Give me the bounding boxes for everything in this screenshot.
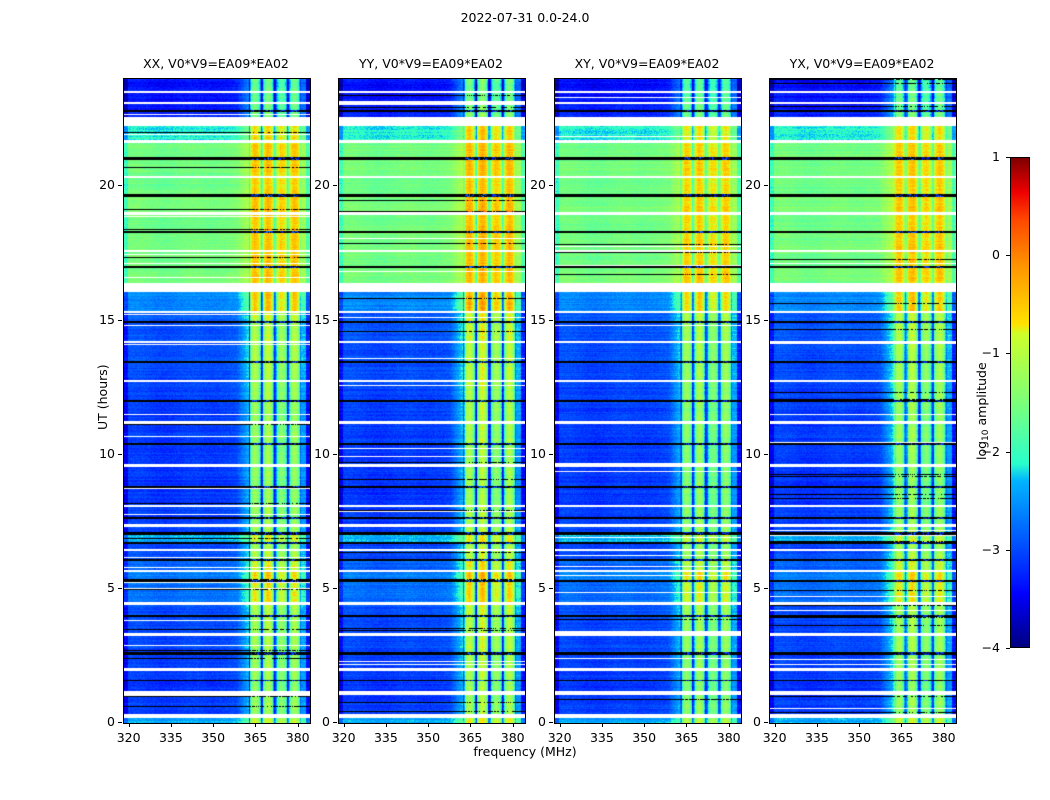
x-tick-label: 320 [540, 730, 580, 745]
y-tick-label: 20 [727, 177, 761, 192]
y-tick [549, 320, 553, 321]
y-tick [764, 454, 768, 455]
panel-title-yy: YY, V0*V9=EA09*EA02 [308, 56, 554, 71]
colorbar-tick [1006, 550, 1010, 551]
x-tick-label: 380 [924, 730, 964, 745]
y-tick-label: 5 [727, 580, 761, 595]
y-tick-label: 0 [81, 714, 115, 729]
panel-title-yx: YX, V0*V9=EA09*EA02 [739, 56, 985, 71]
colorbar-tick [1006, 157, 1010, 158]
x-tick-label: 320 [324, 730, 364, 745]
colorbar-label-subscript: 10 [981, 429, 991, 440]
x-tick [344, 723, 345, 727]
x-tick [775, 723, 776, 727]
y-tick-label: 10 [512, 446, 546, 461]
figure-suptitle: 2022-07-31 0.0-24.0 [0, 10, 1050, 25]
x-tick-label: 380 [709, 730, 749, 745]
spectrum-panel-xy[interactable] [554, 78, 742, 724]
figure-canvas: 2022-07-31 0.0-24.0 UT (hours) frequency… [0, 0, 1050, 800]
x-tick-label: 320 [755, 730, 795, 745]
colorbar-tick [1006, 648, 1010, 649]
spectrum-image-yx [770, 79, 956, 723]
x-axis-label: frequency (MHz) [0, 744, 1050, 759]
x-tick [859, 723, 860, 727]
y-tick-label: 15 [727, 312, 761, 327]
y-tick [764, 588, 768, 589]
y-tick [118, 320, 122, 321]
y-tick [333, 185, 337, 186]
y-tick-label: 5 [512, 580, 546, 595]
spectrum-panel-xx[interactable] [123, 78, 311, 724]
x-tick [686, 723, 687, 727]
panel-title-xy: XY, V0*V9=EA09*EA02 [524, 56, 770, 71]
colorbar-tick-label: 0 [970, 247, 1000, 262]
y-tick-label: 10 [81, 446, 115, 461]
y-tick-label: 15 [81, 312, 115, 327]
y-tick-label: 0 [727, 714, 761, 729]
spectrum-image-yy [339, 79, 525, 723]
colorbar[interactable] [1010, 157, 1030, 648]
y-tick [549, 588, 553, 589]
x-tick-label: 335 [151, 730, 191, 745]
x-tick [817, 723, 818, 727]
x-tick-label: 365 [666, 730, 706, 745]
colorbar-tick-label: −4 [970, 640, 1000, 655]
colorbar-tick-label: −3 [970, 542, 1000, 557]
colorbar-tick [1006, 255, 1010, 256]
y-tick [118, 722, 122, 723]
x-tick-label: 320 [109, 730, 149, 745]
x-tick [129, 723, 130, 727]
x-tick-label: 350 [624, 730, 664, 745]
x-tick-label: 350 [839, 730, 879, 745]
x-tick-label: 335 [797, 730, 837, 745]
colorbar-label-prefix: log [974, 441, 989, 460]
x-tick-label: 365 [450, 730, 490, 745]
colorbar-tick-label: 1 [970, 149, 1000, 164]
x-tick-label: 350 [193, 730, 233, 745]
y-tick [118, 588, 122, 589]
x-tick [213, 723, 214, 727]
x-tick [602, 723, 603, 727]
y-tick [118, 185, 122, 186]
x-tick-label: 335 [582, 730, 622, 745]
y-tick-label: 0 [512, 714, 546, 729]
y-tick [118, 454, 122, 455]
panel-title-xx: XX, V0*V9=EA09*EA02 [93, 56, 339, 71]
spectrum-image-xy [555, 79, 741, 723]
y-tick-label: 5 [296, 580, 330, 595]
x-tick-label: 380 [493, 730, 533, 745]
spectrum-panel-yx[interactable] [769, 78, 957, 724]
y-tick [764, 722, 768, 723]
x-tick [428, 723, 429, 727]
x-tick [944, 723, 945, 727]
y-tick-label: 15 [512, 312, 546, 327]
colorbar-label-suffix: amplitude [974, 362, 989, 429]
x-tick [386, 723, 387, 727]
spectrum-panel-yy[interactable] [338, 78, 526, 724]
y-tick-label: 20 [512, 177, 546, 192]
spectrum-image-xx [124, 79, 310, 723]
colorbar-tick [1006, 452, 1010, 453]
y-tick [333, 588, 337, 589]
x-tick [644, 723, 645, 727]
x-tick [171, 723, 172, 727]
x-tick-label: 365 [881, 730, 921, 745]
x-tick [255, 723, 256, 727]
x-tick-label: 335 [366, 730, 406, 745]
y-tick [333, 722, 337, 723]
y-tick [549, 454, 553, 455]
colorbar-label: log10 amplitude [974, 362, 991, 460]
y-tick [764, 185, 768, 186]
x-tick-label: 350 [408, 730, 448, 745]
colorbar-gradient [1011, 158, 1029, 647]
y-tick-label: 20 [81, 177, 115, 192]
colorbar-tick [1006, 353, 1010, 354]
y-tick [549, 185, 553, 186]
y-tick-label: 5 [81, 580, 115, 595]
y-tick-label: 10 [296, 446, 330, 461]
x-tick [560, 723, 561, 727]
x-tick [470, 723, 471, 727]
y-tick-label: 15 [296, 312, 330, 327]
y-tick-label: 0 [296, 714, 330, 729]
y-tick [549, 722, 553, 723]
y-tick [333, 454, 337, 455]
y-tick [333, 320, 337, 321]
x-tick-label: 380 [278, 730, 318, 745]
x-tick-label: 365 [235, 730, 275, 745]
x-tick [901, 723, 902, 727]
y-axis-label: UT (hours) [95, 364, 110, 430]
y-tick-label: 20 [296, 177, 330, 192]
y-tick [764, 320, 768, 321]
colorbar-tick-label: −1 [970, 345, 1000, 360]
y-tick-label: 10 [727, 446, 761, 461]
